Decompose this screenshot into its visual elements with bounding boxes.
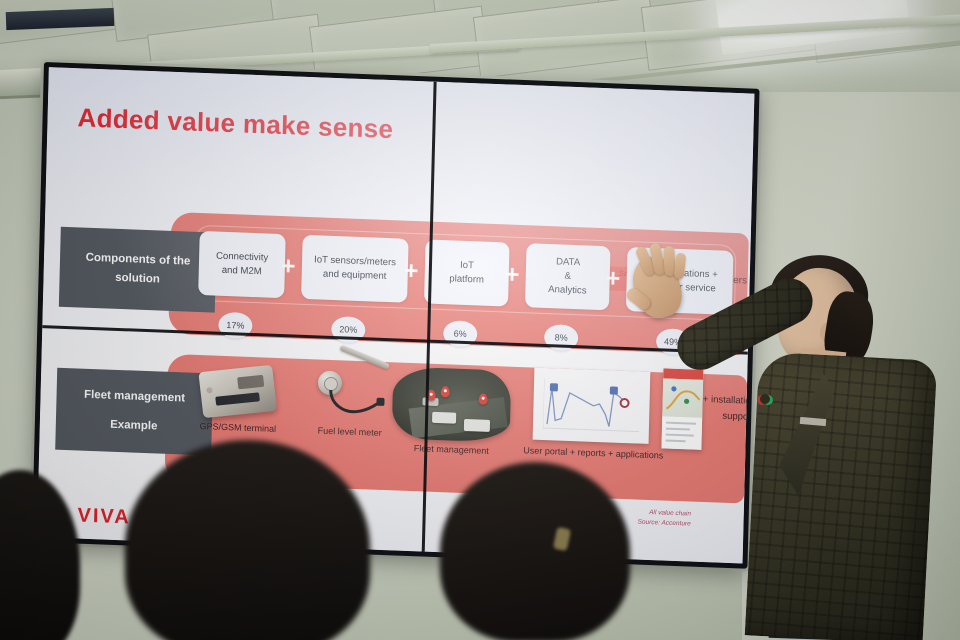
component-data-line2: & (548, 269, 587, 284)
source-note: All value chain Source: Accenture (637, 508, 691, 529)
row-label-fleet-line2: Example (83, 415, 184, 438)
presenter-blazer (745, 352, 938, 640)
component-iot-platform-line1: IoT (449, 258, 484, 273)
portal-line-chart (543, 378, 640, 434)
component-box-iot-platform[interactable]: IoT platform (424, 239, 510, 306)
component-box-iot-sensors[interactable]: IoT sensors/meters and equipment (301, 235, 409, 303)
plus-icon-2: + (404, 261, 419, 282)
audience-head-center (125, 440, 370, 640)
gps-terminal-image (198, 365, 277, 418)
photo-scene: Added value make sense Sales Customers C… (0, 0, 960, 640)
plus-icon-3: + (505, 264, 520, 285)
source-note-line2: Source: Accenture (637, 517, 690, 529)
installation-note-line2: support (695, 408, 754, 427)
component-connectivity-line2: and M2M (215, 264, 268, 280)
slide-title: Added value make sense (77, 102, 393, 145)
component-data-line1: DATA (549, 255, 588, 270)
fleet-photo-image (392, 366, 512, 442)
component-box-data-analytics[interactable]: DATA & Analytics (525, 243, 611, 310)
row-label-fleet-line1: Fleet management (84, 386, 185, 409)
fuel-meter-cable (328, 390, 385, 418)
component-iot-sensors-line2: and equipment (314, 267, 396, 284)
plus-icon-4: + (605, 268, 620, 289)
component-data-line3: Analytics (548, 283, 587, 298)
viva-logo: VIVA (77, 505, 131, 530)
component-iot-platform-line2: platform (449, 272, 484, 287)
component-box-connectivity[interactable]: Connectivity and M2M (198, 231, 286, 298)
row-label-fleet-example: Fleet management Example (55, 368, 213, 456)
row-label-components-line1: Components of the (85, 249, 190, 272)
plus-icon-1: + (281, 256, 296, 277)
row-label-components-line2: solution (85, 268, 190, 291)
user-portal-screenshot (533, 368, 651, 444)
installation-support-note: + installation and support (695, 392, 754, 427)
row-label-components: Components of the solution (59, 227, 217, 313)
audience-head-right (440, 462, 630, 640)
presenter-lapel-badge (760, 394, 770, 404)
